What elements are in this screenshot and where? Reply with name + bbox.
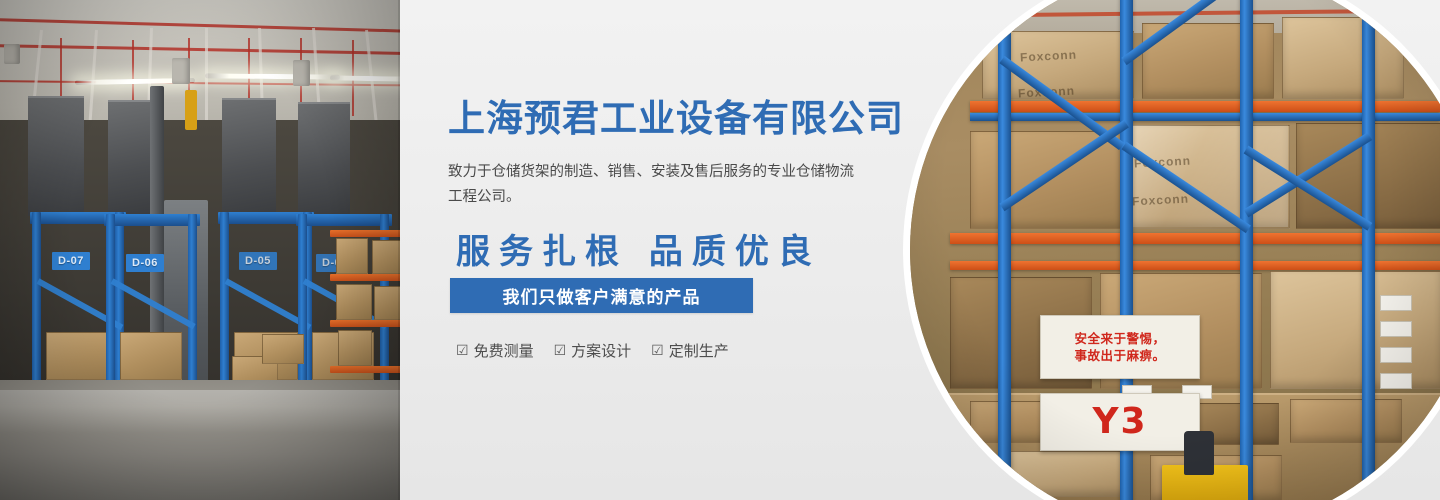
shelf-beam bbox=[330, 320, 400, 327]
feature-item-plan-design: ☑ 方案设计 bbox=[554, 340, 632, 361]
photo-right-edge bbox=[398, 0, 400, 500]
feature-item-custom-production: ☑ 定制生产 bbox=[651, 340, 729, 361]
carton bbox=[374, 286, 400, 320]
feature-label: 定制生产 bbox=[669, 340, 729, 361]
right-circular-photo-frame: Foxconn Foxconn Foxconn Foxconn bbox=[903, 0, 1440, 500]
carton-stack bbox=[1282, 17, 1404, 99]
feature-list: ☑ 免费测量 ☑ 方案设计 ☑ 定制生产 bbox=[456, 340, 729, 361]
carton bbox=[46, 332, 110, 380]
brand-text: Foxconn bbox=[1132, 192, 1190, 209]
inventory-label bbox=[1380, 295, 1412, 311]
checkbox-checked-icon: ☑ bbox=[554, 344, 567, 358]
shelf-beam bbox=[330, 366, 400, 373]
right-warehouse-photo: Foxconn Foxconn Foxconn Foxconn bbox=[910, 0, 1440, 500]
brand-text: Foxconn bbox=[1020, 48, 1078, 65]
duct bbox=[293, 60, 310, 86]
aisle-label: D-05 bbox=[239, 252, 277, 270]
rack-beam bbox=[104, 214, 200, 226]
carton bbox=[336, 238, 368, 274]
shelf-beam bbox=[330, 274, 400, 281]
stacked-crate bbox=[298, 102, 350, 214]
cta-button-label: 我们只做客户满意的产品 bbox=[503, 283, 701, 308]
banner-content: 上海预君工业设备有限公司 致力于仓储货架的制造、销售、安装及售后服务的专业仓储物… bbox=[448, 0, 918, 500]
duct bbox=[172, 58, 190, 84]
carton-stack bbox=[1270, 271, 1440, 389]
carton bbox=[1010, 451, 1132, 497]
carton bbox=[338, 330, 372, 366]
aisle-label: D-07 bbox=[52, 252, 90, 270]
rack-upright bbox=[998, 5, 1011, 500]
bay-sign-label: Y3 bbox=[1092, 403, 1147, 441]
carton bbox=[1290, 399, 1402, 443]
safety-sign-line-1: 安全来于警惕， bbox=[1074, 330, 1165, 347]
checkbox-checked-icon: ☑ bbox=[456, 344, 469, 358]
feature-label: 方案设计 bbox=[571, 340, 631, 361]
left-warehouse-photo: D-07 D-06 D-05 bbox=[0, 0, 400, 500]
stretch-film bbox=[1128, 125, 1288, 227]
feature-label: 免费测量 bbox=[474, 340, 534, 361]
carton bbox=[262, 334, 304, 364]
cta-button[interactable]: 我们只做客户满意的产品 bbox=[450, 278, 753, 313]
duct bbox=[4, 44, 20, 64]
rack-brace bbox=[111, 278, 196, 329]
mast-marker bbox=[185, 90, 197, 130]
page-title: 上海预君工业设备有限公司 bbox=[448, 100, 904, 137]
stacked-crate bbox=[28, 96, 84, 216]
bay-sign: Y3 bbox=[1040, 393, 1200, 451]
stacked-crate bbox=[222, 98, 276, 216]
rack-upright bbox=[1240, 0, 1253, 500]
slogan-text: 服务扎根 品质优良 bbox=[456, 224, 821, 273]
checkbox-checked-icon: ☑ bbox=[651, 344, 664, 358]
aisle-label: D-06 bbox=[126, 254, 164, 272]
carton bbox=[120, 332, 182, 380]
inventory-label bbox=[1380, 347, 1412, 363]
hero-banner: D-07 D-06 D-05 bbox=[0, 0, 1440, 500]
forklift-operator bbox=[1184, 431, 1214, 475]
safety-sign: 安全来于警惕， 事故出于麻痹。 bbox=[1040, 315, 1200, 379]
rack-beam bbox=[296, 214, 392, 226]
floor bbox=[0, 380, 400, 500]
shelf-beam bbox=[330, 230, 400, 237]
inventory-label bbox=[1380, 373, 1412, 389]
carton bbox=[372, 240, 400, 274]
feature-item-free-measure: ☑ 免费测量 bbox=[456, 340, 534, 361]
carton bbox=[336, 284, 372, 320]
page-subtitle: 致力于仓储货架的制造、销售、安装及售后服务的专业仓储物流工程公司。 bbox=[448, 160, 863, 210]
inventory-label bbox=[1380, 321, 1412, 337]
safety-sign-line-2: 事故出于麻痹。 bbox=[1074, 347, 1165, 364]
rack-upright bbox=[1362, 0, 1375, 500]
